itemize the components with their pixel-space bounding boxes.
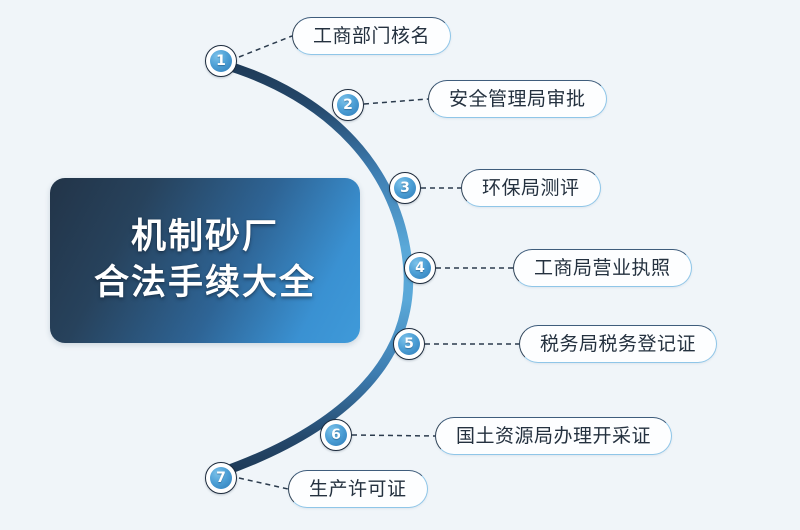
connector-7 — [239, 478, 288, 489]
step-label-6: 国土资源局办理开采证 — [456, 427, 651, 446]
connector-6 — [352, 435, 435, 436]
connector-2 — [364, 99, 428, 104]
badge-number-6: 6 — [331, 428, 341, 442]
step-pill-1[interactable]: 工商部门核名 — [292, 17, 451, 55]
step-label-2: 安全管理局审批 — [449, 90, 586, 109]
badge-disc-7: 7 — [210, 467, 232, 489]
step-pill-4[interactable]: 工商局营业执照 — [513, 249, 692, 287]
step-badge-1[interactable]: 1 — [205, 45, 237, 77]
badge-disc-4: 4 — [409, 257, 431, 279]
title-line-1: 机制砂厂 — [131, 218, 279, 257]
badge-number-3: 3 — [400, 181, 410, 195]
infographic-canvas: 机制砂厂 合法手续大全 1 2 3 4 5 6 7 — [0, 0, 800, 530]
badge-number-1: 1 — [216, 54, 226, 68]
badge-number-7: 7 — [216, 471, 226, 485]
badge-disc-5: 5 — [398, 333, 420, 355]
badge-disc-6: 6 — [325, 424, 347, 446]
step-label-3: 环保局测评 — [482, 179, 580, 198]
badge-disc-1: 1 — [210, 50, 232, 72]
badge-number-5: 5 — [404, 337, 414, 351]
title-card: 机制砂厂 合法手续大全 — [50, 178, 360, 343]
title-line-2: 合法手续大全 — [94, 264, 316, 303]
step-label-4: 工商局营业执照 — [534, 259, 671, 278]
step-pill-5[interactable]: 税务局税务登记证 — [519, 325, 717, 363]
step-pill-3[interactable]: 环保局测评 — [461, 169, 601, 207]
badge-number-4: 4 — [415, 261, 425, 275]
step-pill-7[interactable]: 生产许可证 — [288, 470, 428, 508]
step-label-5: 税务局税务登记证 — [540, 335, 696, 354]
step-badge-5[interactable]: 5 — [393, 328, 425, 360]
step-pill-2[interactable]: 安全管理局审批 — [428, 80, 607, 118]
step-label-1: 工商部门核名 — [313, 27, 430, 46]
badge-disc-2: 2 — [337, 94, 359, 116]
connector-1 — [239, 36, 292, 57]
step-badge-7[interactable]: 7 — [205, 462, 237, 494]
badge-number-2: 2 — [343, 98, 353, 112]
step-pill-6[interactable]: 国土资源局办理开采证 — [435, 417, 672, 455]
step-badge-6[interactable]: 6 — [320, 419, 352, 451]
step-badge-2[interactable]: 2 — [332, 89, 364, 121]
step-badge-4[interactable]: 4 — [404, 252, 436, 284]
badge-disc-3: 3 — [394, 177, 416, 199]
step-badge-3[interactable]: 3 — [389, 172, 421, 204]
step-label-7: 生产许可证 — [309, 480, 407, 499]
